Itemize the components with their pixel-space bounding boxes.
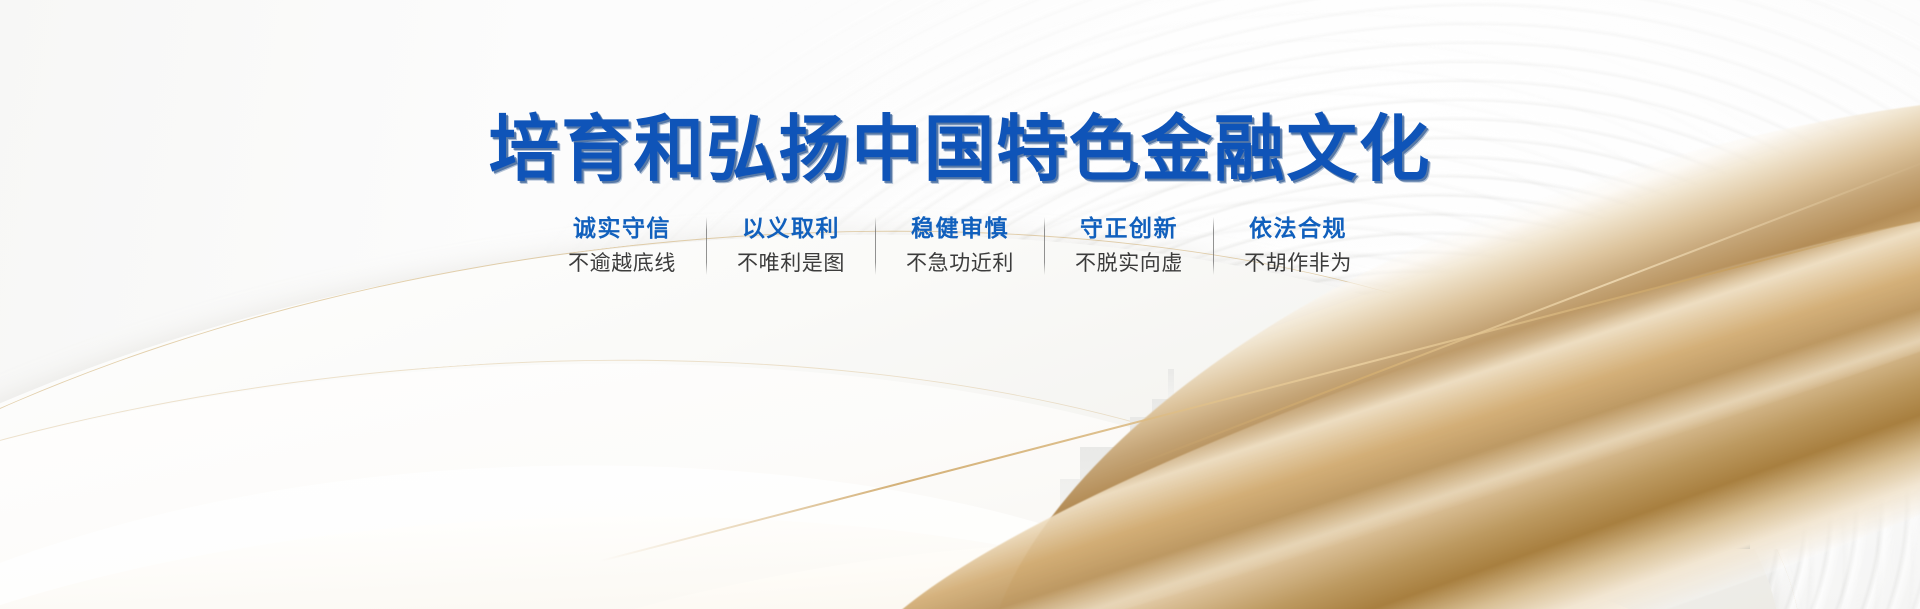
principle-item: 依法合规 不胡作非为 <box>1214 214 1382 278</box>
principle-title: 稳健审慎 <box>906 214 1014 243</box>
principle-title: 以义取利 <box>737 214 845 243</box>
principle-title: 守正创新 <box>1075 214 1183 243</box>
principle-subtitle: 不唯利是图 <box>737 250 845 277</box>
principle-item: 诚实守信 不逾越底线 <box>538 214 706 278</box>
principle-subtitle: 不逾越底线 <box>568 250 676 277</box>
banner-root: 培育和弘扬中国特色金融文化 诚实守信 不逾越底线 以义取利 不唯利是图 稳健审慎… <box>0 0 1920 609</box>
principle-subtitle: 不急功近利 <box>906 250 1014 277</box>
principles-list: 诚实守信 不逾越底线 以义取利 不唯利是图 稳健审慎 不急功近利 守正创新 不脱… <box>0 214 1920 278</box>
principle-title: 诚实守信 <box>568 214 676 243</box>
principle-item: 以义取利 不唯利是图 <box>707 214 875 278</box>
banner-content: 培育和弘扬中国特色金融文化 诚实守信 不逾越底线 以义取利 不唯利是图 稳健审慎… <box>0 0 1920 277</box>
principle-item: 守正创新 不脱实向虚 <box>1045 214 1213 278</box>
page-title: 培育和弘扬中国特色金融文化 <box>19 0 1901 190</box>
principle-subtitle: 不胡作非为 <box>1244 250 1352 277</box>
principle-title: 依法合规 <box>1244 214 1352 243</box>
principle-subtitle: 不脱实向虚 <box>1075 250 1183 277</box>
principle-item: 稳健审慎 不急功近利 <box>876 214 1044 278</box>
